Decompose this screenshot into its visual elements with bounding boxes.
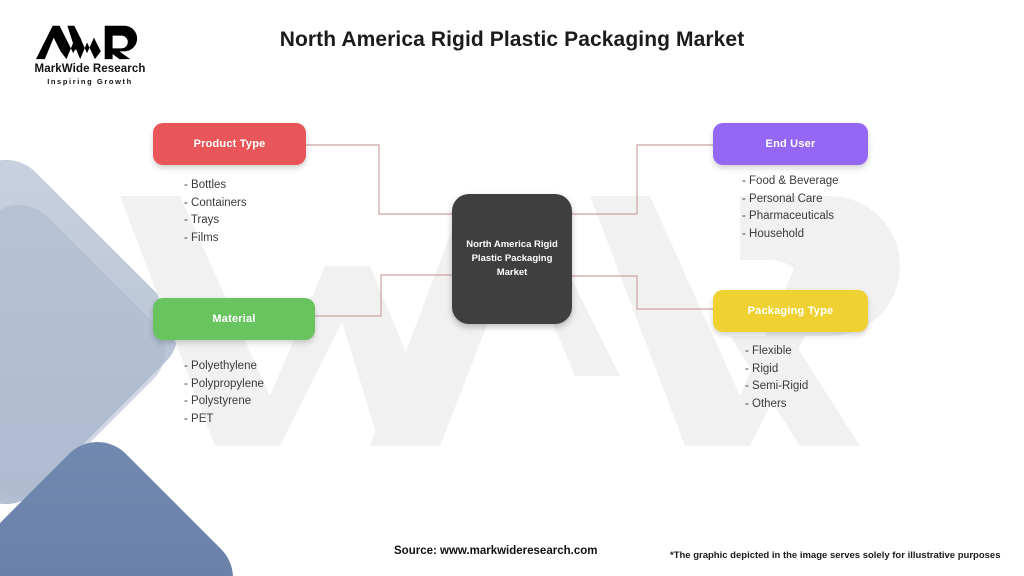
branch-label-material: Material xyxy=(212,313,255,325)
disclaimer-text: *The graphic depicted in the image serve… xyxy=(670,550,1001,561)
connector-end-user xyxy=(572,145,713,214)
list-item: - PET xyxy=(184,411,264,429)
branch-pill-material[interactable]: Material xyxy=(153,298,315,340)
branch-label-product-type: Product Type xyxy=(194,138,266,150)
branch-pill-end-user[interactable]: End User xyxy=(713,123,868,165)
source-text[interactable]: Source: www.markwideresearch.com xyxy=(394,545,597,557)
list-item: - Food & Beverage xyxy=(742,173,839,191)
list-item: - Others xyxy=(745,396,808,414)
list-item: - Personal Care xyxy=(742,191,839,209)
center-node-label: North America Rigid Plastic Packaging Ma… xyxy=(452,238,572,280)
list-item: - Rigid xyxy=(745,361,808,379)
connector-packaging-type xyxy=(572,276,713,309)
logo-tagline: Inspiring Growth xyxy=(20,77,160,86)
branch-pill-packaging-type[interactable]: Packaging Type xyxy=(713,290,868,332)
branch-pill-product-type[interactable]: Product Type xyxy=(153,123,306,165)
list-item: - Polystyrene xyxy=(184,393,264,411)
list-item: - Bottles xyxy=(184,177,247,195)
branch-label-packaging-type: Packaging Type xyxy=(748,305,834,317)
connector-product-type xyxy=(306,145,452,214)
list-item: - Pharmaceuticals xyxy=(742,208,839,226)
infographic-canvas: MarkWide Research Inspiring Growth North… xyxy=(0,0,1024,576)
center-node[interactable]: North America Rigid Plastic Packaging Ma… xyxy=(452,194,572,324)
connector-material xyxy=(315,275,452,316)
list-item: - Flexible xyxy=(745,343,808,361)
list-item: - Household xyxy=(742,226,839,244)
list-item: - Films xyxy=(184,230,247,248)
page-title: North America Rigid Plastic Packaging Ma… xyxy=(0,28,1024,52)
list-item: - Trays xyxy=(184,212,247,230)
branch-items-product-type: - Bottles - Containers - Trays - Films xyxy=(184,177,247,247)
branch-label-end-user: End User xyxy=(766,138,816,150)
list-item: - Polypropylene xyxy=(184,376,264,394)
list-item: - Containers xyxy=(184,195,247,213)
branch-items-end-user: - Food & Beverage - Personal Care - Phar… xyxy=(742,173,839,243)
list-item: - Polyethylene xyxy=(184,358,264,376)
logo-company-name: MarkWide Research xyxy=(20,63,160,75)
branch-items-packaging-type: - Flexible - Rigid - Semi-Rigid - Others xyxy=(745,343,808,413)
list-item: - Semi-Rigid xyxy=(745,378,808,396)
branch-items-material: - Polyethylene - Polypropylene - Polysty… xyxy=(184,358,264,428)
